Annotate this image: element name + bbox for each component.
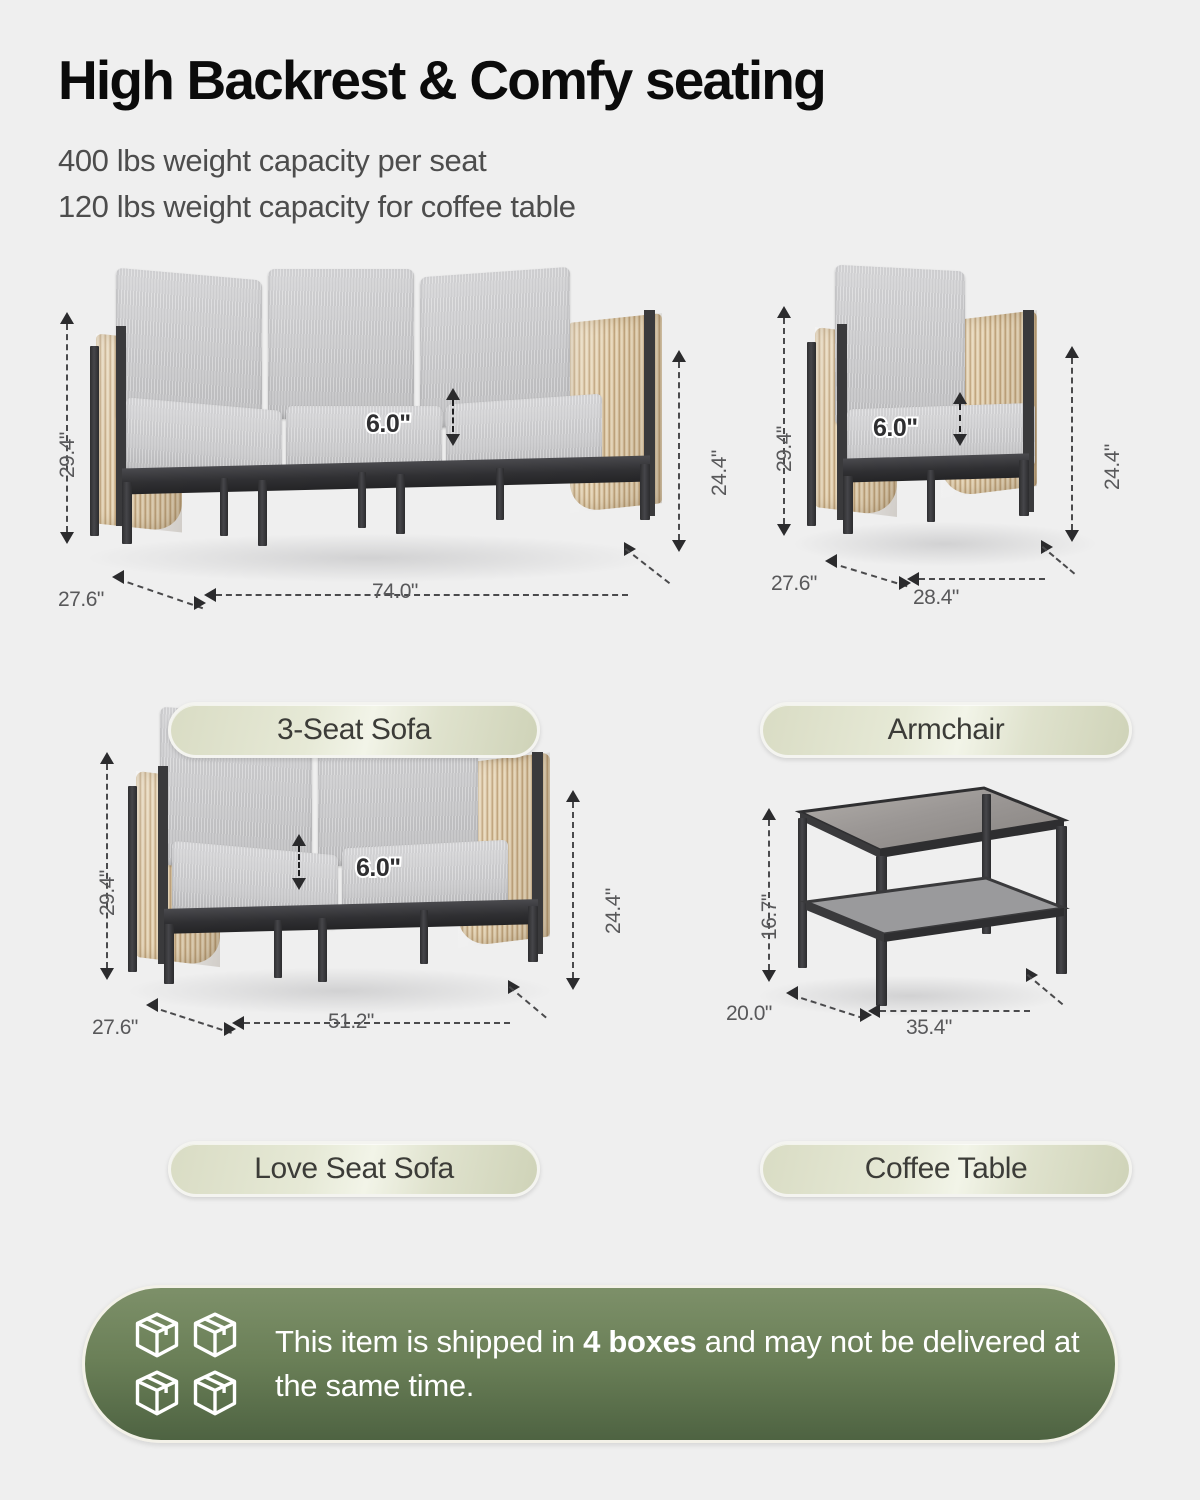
callout-loveseat-cushion: 6.0"	[356, 854, 401, 883]
seat-capacity-text: 400 lbs weight capacity per seat	[58, 138, 1200, 184]
dim-line-width	[919, 578, 1045, 580]
dim-arrow-width-left	[204, 588, 216, 602]
dim-loveseat-seat-height: 24.4"	[602, 888, 626, 934]
dim-loveseat-depth: 27.6"	[92, 1016, 138, 1040]
dim-arrow-seat-top	[566, 790, 580, 802]
leg-mid-3	[358, 472, 366, 528]
dim-armchair-depth: 27.6"	[771, 572, 817, 596]
seat-frame-rail	[843, 453, 1029, 482]
dim-line-width	[216, 594, 628, 596]
dim-arrow-height-bottom	[100, 968, 114, 980]
leg-mid-5	[496, 468, 504, 520]
floor-shadow	[90, 534, 650, 582]
label-pill-armchair-text: Armchair	[888, 713, 1005, 747]
leg-rear-left	[128, 786, 137, 972]
shipping-banner-text: This item is shipped in 4 boxes and may …	[275, 1320, 1115, 1408]
dim-arrow-height-top	[762, 808, 776, 820]
leg-mid-2	[258, 480, 267, 546]
dim-arrow-depth-left	[112, 570, 124, 584]
dim-arrow-height-top	[100, 752, 114, 764]
leg-mid-3	[420, 910, 428, 964]
dim-arrow-width-left	[868, 1004, 880, 1018]
dim-arrow-seat-bottom	[672, 540, 686, 552]
leg-front-left	[164, 924, 174, 984]
dim-table-depth: 20.0"	[726, 1002, 772, 1026]
dim-line-height	[106, 764, 108, 968]
cushion-thickness-arrow	[953, 392, 967, 446]
dim-line-width	[244, 1022, 510, 1024]
leg-rear-left	[90, 346, 99, 536]
leg-mid-1	[220, 478, 228, 536]
box-icon	[189, 1367, 241, 1419]
leg-rear-left	[807, 342, 816, 526]
leg-front-right	[1019, 460, 1029, 516]
shipping-box-count: 4 boxes	[583, 1324, 696, 1359]
dim-line-seat-height	[1071, 358, 1073, 530]
dim-line-height	[66, 324, 68, 532]
header: High Backrest & Comfy seating 400 lbs we…	[0, 0, 1200, 230]
dim-line-width	[880, 1010, 1030, 1012]
dim-arrow-height-bottom	[60, 532, 74, 544]
dim-table-height: 16.7"	[758, 894, 782, 940]
dim-arrow-depth-left	[825, 554, 837, 568]
box-icon	[189, 1309, 241, 1361]
dim-table-width: 35.4"	[906, 1016, 952, 1040]
shipping-banner: This item is shipped in 4 boxes and may …	[82, 1285, 1118, 1443]
box-icon	[131, 1309, 183, 1361]
leg-front-right	[640, 464, 650, 520]
dim-sofa-depth: 27.6"	[58, 588, 104, 612]
dim-arrow-seat-bottom	[566, 978, 580, 990]
dim-arrow-height-bottom	[777, 524, 791, 536]
label-pill-loveseat-text: Love Seat Sofa	[254, 1152, 454, 1186]
dim-loveseat-width: 51.2"	[328, 1010, 374, 1034]
floor-shadow	[130, 968, 550, 1014]
dim-armchair-seat-height: 24.4"	[1101, 444, 1125, 490]
product-figure-sofa: 29.4" 24.4" 27.6" 74.0" 6.0"	[30, 266, 720, 626]
dim-arrow-width-left	[907, 572, 919, 586]
dim-arrow-seat-top	[672, 350, 686, 362]
leg-mid-4	[396, 474, 405, 534]
box-icon	[131, 1367, 183, 1419]
label-pill-coffee-table: Coffee Table	[760, 1141, 1132, 1197]
label-pill-coffee-table-text: Coffee Table	[865, 1152, 1028, 1186]
leg-front-right	[528, 906, 538, 962]
back-cushion-2	[268, 269, 414, 419]
cushion-thickness-arrow	[292, 834, 306, 890]
capacity-list: 400 lbs weight capacity per seat 120 lbs…	[58, 138, 1200, 230]
dim-arrow-seat-top	[1065, 346, 1079, 358]
dim-armchair-height: 29.4"	[773, 426, 797, 472]
dim-sofa-height: 29.4"	[56, 432, 80, 478]
dim-arrow-width-left	[232, 1016, 244, 1030]
table-capacity-text: 120 lbs weight capacity for coffee table	[58, 184, 1200, 230]
dim-arrow-height-top	[60, 312, 74, 324]
label-pill-loveseat: Love Seat Sofa	[168, 1141, 540, 1197]
shipping-text-before: This item is shipped in	[275, 1324, 583, 1359]
dim-line-height	[783, 318, 785, 524]
dim-armchair-width: 28.4"	[913, 586, 959, 610]
callout-sofa-cushion: 6.0"	[366, 410, 411, 439]
dim-line-seat-height	[678, 362, 680, 540]
leg-mid	[927, 470, 935, 522]
product-figure-armchair: 29.4" 24.4" 27.6" 28.4" 6.0"	[755, 266, 1155, 626]
dim-arrow-depth-left	[146, 998, 158, 1012]
leg-mid-1	[274, 920, 282, 978]
label-pill-armchair: Armchair	[760, 702, 1132, 758]
dim-arrow-depth-left	[786, 986, 798, 1000]
label-pill-sofa: 3-Seat Sofa	[168, 702, 540, 758]
leg-front-left	[122, 482, 132, 544]
label-pill-sofa-text: 3-Seat Sofa	[277, 713, 431, 747]
leg-front-left	[843, 476, 853, 534]
dim-sofa-width: 74.0"	[372, 580, 418, 604]
product-figure-loveseat: 29.4" 24.4" 27.6" 51.2" 6.0"	[80, 706, 620, 1066]
dim-sofa-seat-height: 24.4"	[708, 450, 732, 496]
callout-armchair-cushion: 6.0"	[873, 414, 918, 443]
dim-line-seat-height	[572, 802, 574, 978]
cushion-thickness-arrow	[446, 388, 460, 446]
dim-arrow-height-top	[777, 306, 791, 318]
dim-arrow-height-bottom	[762, 970, 776, 982]
boxes-icon-group	[131, 1309, 241, 1419]
product-figure-coffee-table: 16.7" 20.0" 35.4"	[720, 776, 1120, 1066]
dim-loveseat-height: 29.4"	[96, 870, 120, 916]
leg-mid-2	[318, 918, 327, 982]
sofa-illustration	[30, 266, 720, 626]
page-title: High Backrest & Comfy seating	[58, 52, 1200, 110]
dim-arrow-seat-bottom	[1065, 530, 1079, 542]
